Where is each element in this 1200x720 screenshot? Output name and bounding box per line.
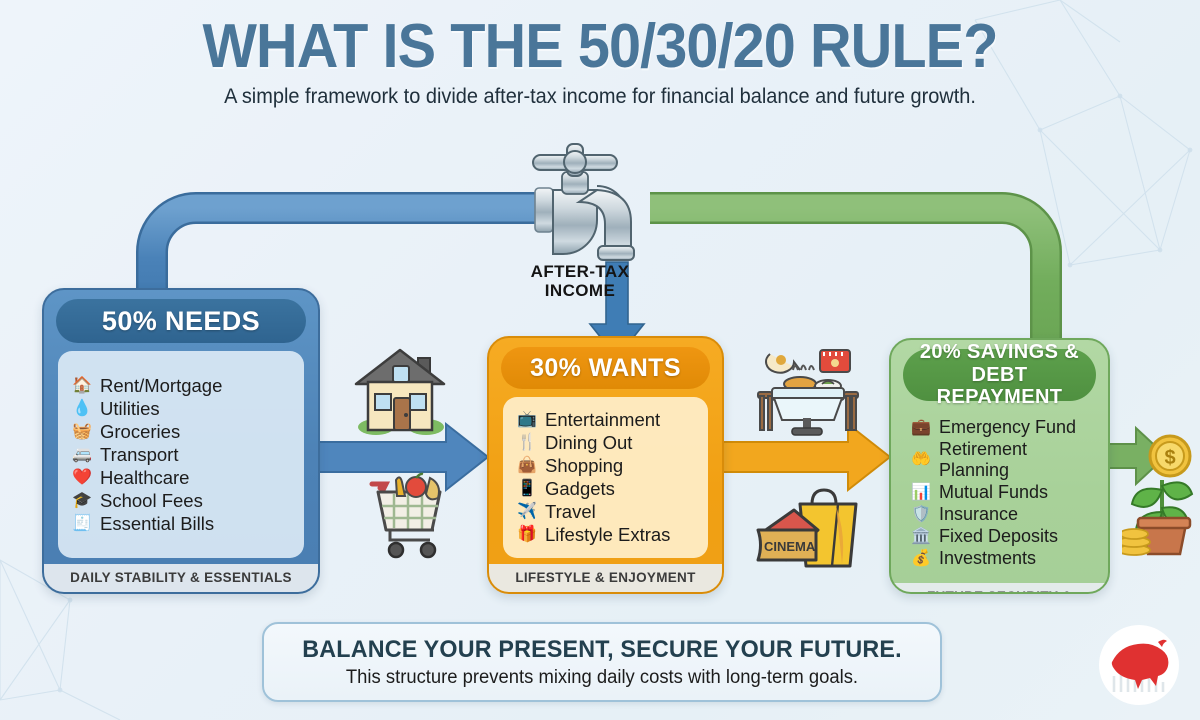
footer-banner: BALANCE YOUR PRESENT, SECURE YOUR FUTURE… [262,622,942,702]
list-item: 🏛️ Fixed Deposits [911,526,1084,547]
smartphone-icon: 📱 [517,481,537,497]
list-item: 🚐 Transport [72,444,294,466]
page-subtitle: A simple framework to divide after-tax i… [30,85,1170,109]
list-item-label: Transport [100,444,178,466]
list-item: 📺 Entertainment [517,409,698,431]
list-item-label: Investments [939,548,1036,569]
list-item: 🎓 School Fees [72,490,294,512]
faucet-icon [533,144,634,260]
card-savings-footer: FUTURE SECURITY & GROWTH [891,583,1108,594]
coin-symbol: $ [1164,447,1175,469]
shield-icon: 🛡️ [911,507,931,523]
list-item-label: Insurance [939,504,1018,525]
list-item: 🤲 Retirement Planning [911,439,1084,481]
footer-banner-subline: This structure prevents mixing daily cos… [346,667,858,689]
receipt-icon: 🧾 [72,516,92,532]
card-needs-footer: DAILY STABILITY & ESSENTIALS [44,564,318,592]
coin-hand-icon: 🤲 [911,452,931,468]
page-title: WHAT IS THE 50/30/20 RULE? [42,14,1158,79]
card-needs-list: 🏠 Rent/Mortgage 💧 Utilities 🧺 Groceries … [58,351,304,558]
after-tax-line2: INCOME [520,281,640,300]
droplet-icon: 💧 [72,401,92,417]
card-needs[interactable]: 50% NEEDS 🏠 Rent/Mortgage 💧 Utilities 🧺 … [42,288,320,594]
dining-table-illustration [748,340,866,438]
house-illustration [348,344,452,440]
card-needs-heading: 50% NEEDS [56,299,306,343]
list-item-label: Mutual Funds [939,482,1048,503]
card-wants-footer: LIFESTYLE & ENJOYMENT [489,564,722,592]
list-item: 🧺 Groceries [72,421,294,443]
card-savings-heading-line1: 20% SAVINGS & [909,341,1090,363]
heart-care-icon: ❤️ [72,470,92,486]
card-wants[interactable]: 30% WANTS 📺 Entertainment 🍴 Dining Out 👜… [487,336,724,594]
list-item-label: Gadgets [545,478,615,500]
gift-icon: 🎁 [517,527,537,543]
list-item-label: Groceries [100,421,180,443]
basket-icon: 🧺 [72,424,92,440]
page-header: WHAT IS THE 50/30/20 RULE? A simple fram… [0,14,1200,109]
list-item-label: Essential Bills [100,513,214,535]
money-hand-icon: 💰 [911,551,931,567]
list-item-label: Utilities [100,398,160,420]
list-item-label: Retirement Planning [939,439,1084,481]
bank-icon: 🏛️ [911,529,931,545]
list-item: 📊 Mutual Funds [911,482,1084,503]
card-savings-list: 💼 Emergency Fund 🤲 Retirement Planning 📊… [905,409,1094,577]
card-savings[interactable]: 20% SAVINGS & DEBT REPAYMENT 💼 Emergency… [889,338,1110,594]
graduation-icon: 🎓 [72,493,92,509]
list-item: 📱 Gadgets [517,478,698,500]
list-item: 👜 Shopping [517,455,698,477]
cinema-bag-illustration: CINEMA [752,486,864,574]
list-item: 💼 Emergency Fund [911,417,1084,438]
list-item-label: Travel [545,501,596,523]
list-item-label: Shopping [545,455,623,477]
list-item-label: Rent/Mortgage [100,375,222,397]
bar-chart-icon: 📊 [911,485,931,501]
footer-banner-headline: BALANCE YOUR PRESENT, SECURE YOUR FUTURE… [302,636,902,664]
list-item-label: Emergency Fund [939,417,1076,438]
list-item: 🏠 Rent/Mortgage [72,375,294,397]
grocery-cart-illustration [350,472,454,564]
airplane-icon: ✈️ [517,504,537,520]
list-item: 🛡️ Insurance [911,504,1084,525]
house-icon: 🏠 [72,378,92,394]
van-icon: 🚐 [72,447,92,463]
briefcase-icon: 💼 [911,420,931,436]
list-item-label: Fixed Deposits [939,526,1058,547]
list-item: ✈️ Travel [517,501,698,523]
shopping-bag-icon: 👜 [517,458,537,474]
list-item: 🧾 Essential Bills [72,513,294,535]
list-item: ❤️ Healthcare [72,467,294,489]
list-item-label: Healthcare [100,467,189,489]
money-plant-illustration: $ [1122,428,1200,560]
card-savings-heading: 20% SAVINGS & DEBT REPAYMENT [903,349,1096,401]
list-item-label: School Fees [100,490,203,512]
list-item-label: Lifestyle Extras [545,524,670,546]
card-savings-heading-line2: DEBT REPAYMENT [909,364,1090,409]
list-item: 💰 Investments [911,548,1084,569]
cinema-ticket-text: CINEMA [764,539,816,554]
cutlery-icon: 🍴 [517,435,537,451]
card-wants-list: 📺 Entertainment 🍴 Dining Out 👜 Shopping … [503,397,708,558]
card-wants-heading: 30% WANTS [501,347,710,389]
after-tax-line1: AFTER-TAX [520,262,640,281]
list-item-label: Entertainment [545,409,660,431]
television-icon: 📺 [517,412,537,428]
after-tax-income-label: AFTER-TAX INCOME [520,262,640,300]
list-item: 💧 Utilities [72,398,294,420]
bull-market-logo [1092,618,1186,712]
list-item: 🍴 Dining Out [517,432,698,454]
list-item: 🎁 Lifestyle Extras [517,524,698,546]
list-item-label: Dining Out [545,432,632,454]
